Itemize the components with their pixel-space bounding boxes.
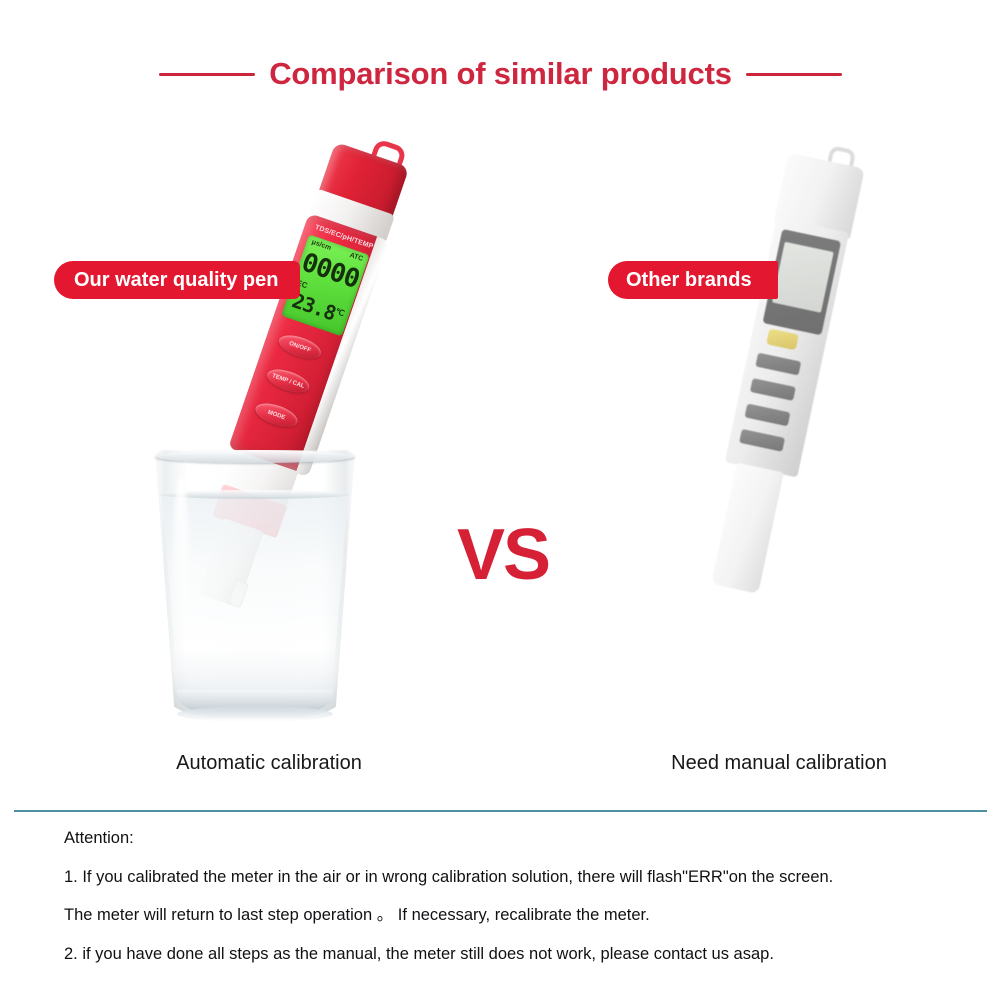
left-product-stage: TDS/EC/pH/TEMP μs/cm ATC 0000 EC 23.8℃ O… [0, 120, 500, 800]
glass-highlight [173, 476, 189, 666]
attention-line-3: 2. if you have done all steps as the man… [64, 944, 964, 965]
badge-our-pen: Our water quality pen [54, 261, 300, 299]
attention-line-1: 1. If you calibrated the meter in the ai… [64, 867, 964, 888]
attention-block: Attention: 1. If you calibrated the mete… [64, 828, 964, 965]
page-title-row: Comparison of similar products [0, 52, 1001, 96]
right-product-stage [500, 120, 1000, 800]
glass-rim [155, 450, 355, 463]
lcd-atc-indicator: ATC [349, 252, 364, 263]
caption-left: Automatic calibration [19, 752, 519, 775]
water-glass-left [155, 450, 355, 718]
other-brand-meter [694, 148, 870, 596]
glass-base-ellipse [177, 706, 333, 722]
title-rule-left [159, 73, 255, 76]
glass-waterline [160, 490, 350, 499]
caption-right: Need manual calibration [529, 752, 1001, 775]
attention-heading: Attention: [64, 828, 964, 849]
lcd-temperature-unit: ℃ [334, 307, 344, 318]
badge-other-brands: Other brands [608, 261, 778, 299]
meter-probe [711, 463, 784, 594]
vs-label: VS [443, 519, 563, 591]
page-title: Comparison of similar products [269, 56, 732, 92]
footer-divider [14, 810, 987, 812]
attention-line-2: The meter will return to last step opera… [64, 905, 964, 926]
title-rule-right [746, 73, 842, 76]
